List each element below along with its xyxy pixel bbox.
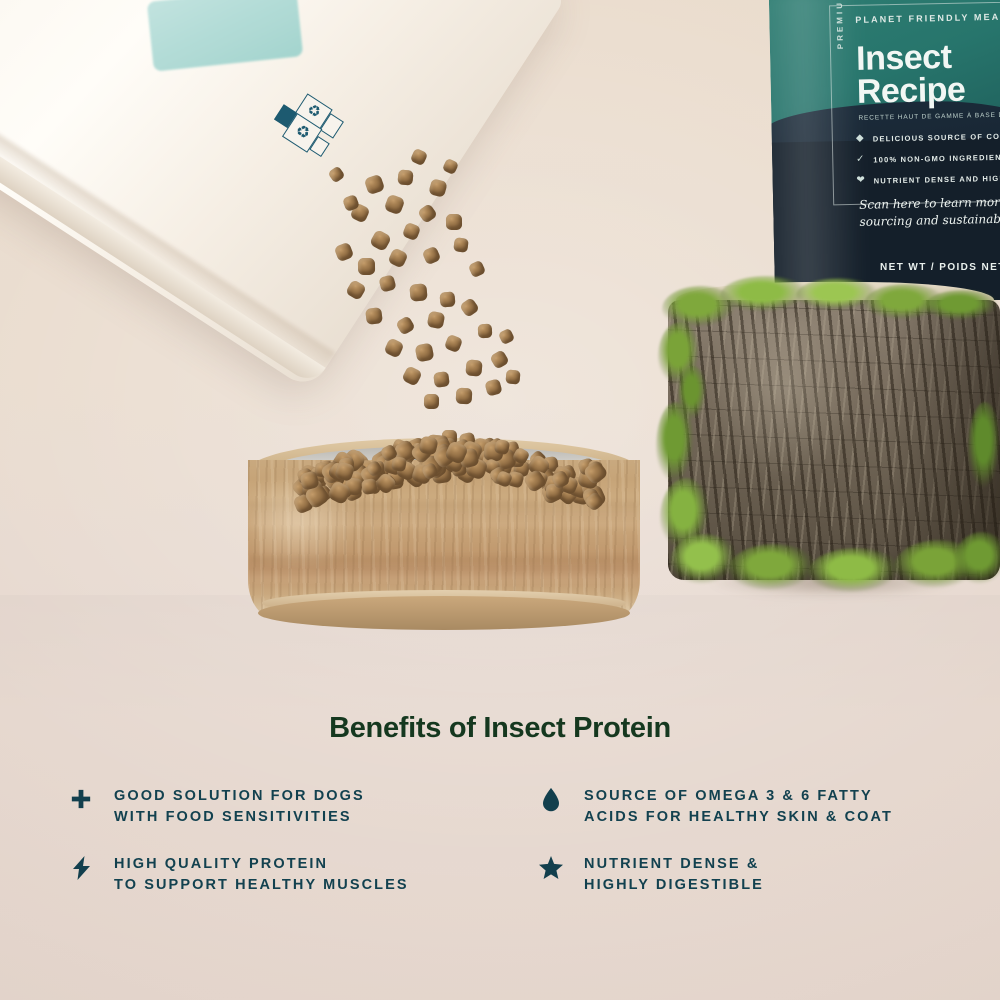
kibble-pile [286,418,602,486]
benefit-line1: SOURCE OF OMEGA 3 & 6 FATTY [584,786,893,807]
benefit-item: SOURCE OF OMEGA 3 & 6 FATTY ACIDS FOR HE… [538,786,968,828]
bag-bullet-label: 100% NON-GMO INGREDIENTS [873,152,1000,164]
bag-net-weight: NET WT / POIDS NET 3 [880,262,1000,273]
kibble-piece [446,214,462,230]
bag-bullet-list: ◆ DELICIOUS SOURCE OF COMP ✓ 100% NON-GM… [854,130,1000,196]
bag-premium-label: PREMIUM [835,0,845,49]
kibble-piece [424,394,439,409]
benefit-item: NUTRIENT DENSE & HIGHLY DIGESTIBLE [538,854,968,896]
moss-clump [808,548,904,598]
bowl-base [258,596,630,630]
moss-clump [678,366,708,426]
kibble-piece [391,456,407,472]
bark-highlight [708,317,901,541]
bag-bullet: ◆ DELICIOUS SOURCE OF COMP [854,130,1000,145]
benefit-line1: NUTRIENT DENSE & [584,854,764,875]
kibble-piece [358,258,375,275]
kibble-piece [439,291,455,307]
bag-bullet: ❤ NUTRIENT DENSE AND HIGHLY [855,172,1000,187]
heart-icon: ❤ [855,175,867,187]
benefits-grid: GOOD SOLUTION FOR DOGS WITH FOOD SENSITI… [68,786,968,896]
benefit-text: SOURCE OF OMEGA 3 & 6 FATTY ACIDS FOR HE… [584,786,893,828]
product-lifestyle-image: ♻ ♻ PLANET FRIENDLY MEALS I PREMIUM Inse… [0,0,1000,1000]
kibble-piece [505,369,520,384]
moss-clump [924,290,1000,324]
moss-clump [728,544,820,596]
bag-script-line2: sourcing and sustainability s [859,210,1000,231]
benefit-line2: TO SUPPORT HEALTHY MUSCLES [114,875,409,896]
droplet-icon [538,786,564,818]
benefit-line2: ACIDS FOR HEALTHY SKIN & COAT [584,807,893,828]
kibble-piece [456,388,473,405]
plus-icon [68,786,94,818]
kibble-piece [453,237,469,253]
bag-title-line2: Recipe [857,74,966,109]
kibble-piece [433,371,450,388]
benefit-item: HIGH QUALITY PROTEIN TO SUPPORT HEALTHY … [68,854,498,896]
kibble-piece [465,359,482,376]
benefit-line2: HIGHLY DIGESTIBLE [584,875,764,896]
benefits-title: Benefits of Insect Protein [0,712,1000,745]
benefits-section: Benefits of Insect Protein GOOD SOLUTION… [0,712,1000,745]
bag-bullet-label: NUTRIENT DENSE AND HIGHLY [874,173,1000,185]
mossy-tree-stump [668,282,1000,594]
lightning-bolt-icon [68,854,94,886]
benefit-line1: HIGH QUALITY PROTEIN [114,854,409,875]
benefit-line1: GOOD SOLUTION FOR DOGS [114,786,365,807]
insect-recipe-product-bag: PLANET FRIENDLY MEALS I PREMIUM Insect R… [769,0,1000,305]
star-icon [538,854,564,886]
benefit-text: GOOD SOLUTION FOR DOGS WITH FOOD SENSITI… [114,786,365,828]
kibble-piece [409,283,427,301]
bag-bullet-label: DELICIOUS SOURCE OF COMP [873,131,1000,143]
kibble-piece [478,324,493,339]
moss-clump [968,402,1000,498]
benefit-line2: WITH FOOD SENSITIVITIES [114,807,365,828]
benefit-text: NUTRIENT DENSE & HIGHLY DIGESTIBLE [584,854,764,896]
kibble-piece [365,307,383,325]
bag-script-text: Scan here to learn more about sourcing a… [859,193,1000,231]
bag-bullet: ✓ 100% NON-GMO INGREDIENTS [854,151,1000,166]
bug-icon: ◆ [854,133,866,145]
bag-title: Insect Recipe [856,41,966,109]
bag-side-edge [0,0,40,49]
benefit-item: GOOD SOLUTION FOR DOGS WITH FOOD SENSITI… [68,786,498,828]
kibble-piece [397,169,413,185]
check-icon: ✓ [854,154,866,166]
benefit-text: HIGH QUALITY PROTEIN TO SUPPORT HEALTHY … [114,854,409,896]
